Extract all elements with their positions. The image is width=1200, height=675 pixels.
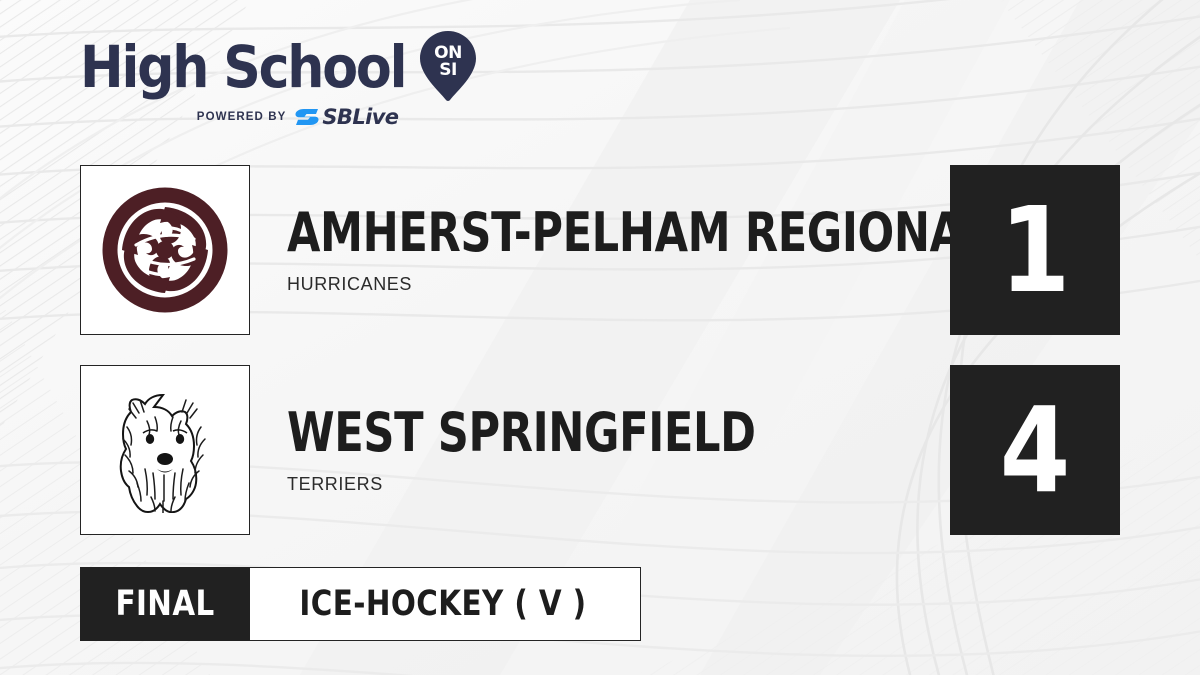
team-logo-box	[80, 165, 250, 335]
team-row: WEST SPRINGFIELD TERRIERS 4	[80, 365, 1120, 535]
team-score-box: 1	[950, 165, 1120, 335]
hurricane-circle-logo-icon	[102, 187, 228, 313]
team-name: AMHERST-PELHAM REGIONAL	[287, 206, 990, 260]
sblive-logo: SBLive	[294, 105, 398, 129]
team-row: AMHERST-PELHAM REGIONAL HURRICANES 1	[80, 165, 1120, 335]
game-status-bar: FINAL ICE-HOCKEY ( V )	[80, 567, 641, 641]
sblive-text: SBLive	[322, 105, 398, 129]
brand-row: High School ON SI	[80, 33, 479, 101]
wordmark-high-school: High School	[80, 38, 405, 96]
team-score: 4	[1000, 391, 1071, 509]
status-badge: FINAL	[80, 567, 250, 641]
pin-text-si: SI	[439, 60, 457, 80]
status-label: FINAL	[115, 587, 214, 622]
powered-by-row: POWERED BY SBLive	[116, 105, 479, 129]
brand-logo: High School ON SI POWERED BY SBLive	[80, 33, 479, 129]
on-si-pin-icon: ON SI	[417, 31, 479, 101]
powered-by-label: POWERED BY	[197, 111, 287, 123]
sport-panel: ICE-HOCKEY ( V )	[250, 567, 641, 641]
team-info: WEST SPRINGFIELD TERRIERS	[287, 365, 873, 535]
sport-label: ICE-HOCKEY ( V )	[299, 587, 586, 622]
team-logo-box	[80, 365, 250, 535]
team-name: WEST SPRINGFIELD	[287, 406, 756, 460]
team-score: 1	[1000, 191, 1071, 309]
terrier-dog-logo-icon	[107, 387, 223, 513]
sblive-arrow-icon	[294, 107, 320, 127]
team-score-box: 4	[950, 365, 1120, 535]
team-mascot: TERRIERS	[287, 474, 873, 495]
